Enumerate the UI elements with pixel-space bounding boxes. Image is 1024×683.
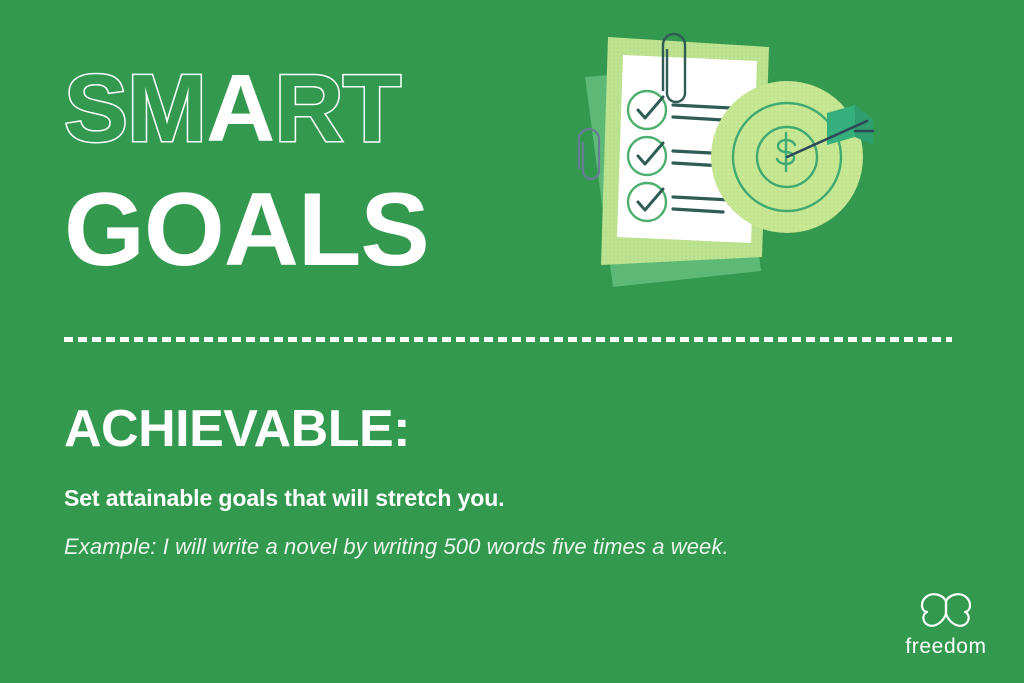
title-segment-sm: SM	[64, 55, 206, 162]
checklist-target-illustration	[555, 25, 895, 310]
butterfly-icon	[918, 591, 974, 633]
page-title: SMART GOALS	[64, 62, 584, 282]
title-segment-rt: RT	[274, 55, 400, 162]
section-subheading: Set attainable goals that will stretch y…	[64, 485, 944, 512]
title-line-smart: SMART	[64, 62, 584, 170]
dashed-divider	[64, 337, 952, 342]
brand-wordmark: freedom	[890, 635, 1002, 659]
brand-logo: freedom	[890, 591, 1002, 659]
smart-goals-poster: SMART GOALS	[0, 0, 1024, 683]
title-segment-a: A	[206, 55, 274, 162]
section-example: Example: I will write a novel by writing…	[64, 534, 944, 560]
section-heading: ACHIEVABLE:	[64, 402, 944, 457]
body-copy: ACHIEVABLE: Set attainable goals that wi…	[64, 402, 944, 560]
title-line-goals: GOALS	[64, 178, 584, 282]
